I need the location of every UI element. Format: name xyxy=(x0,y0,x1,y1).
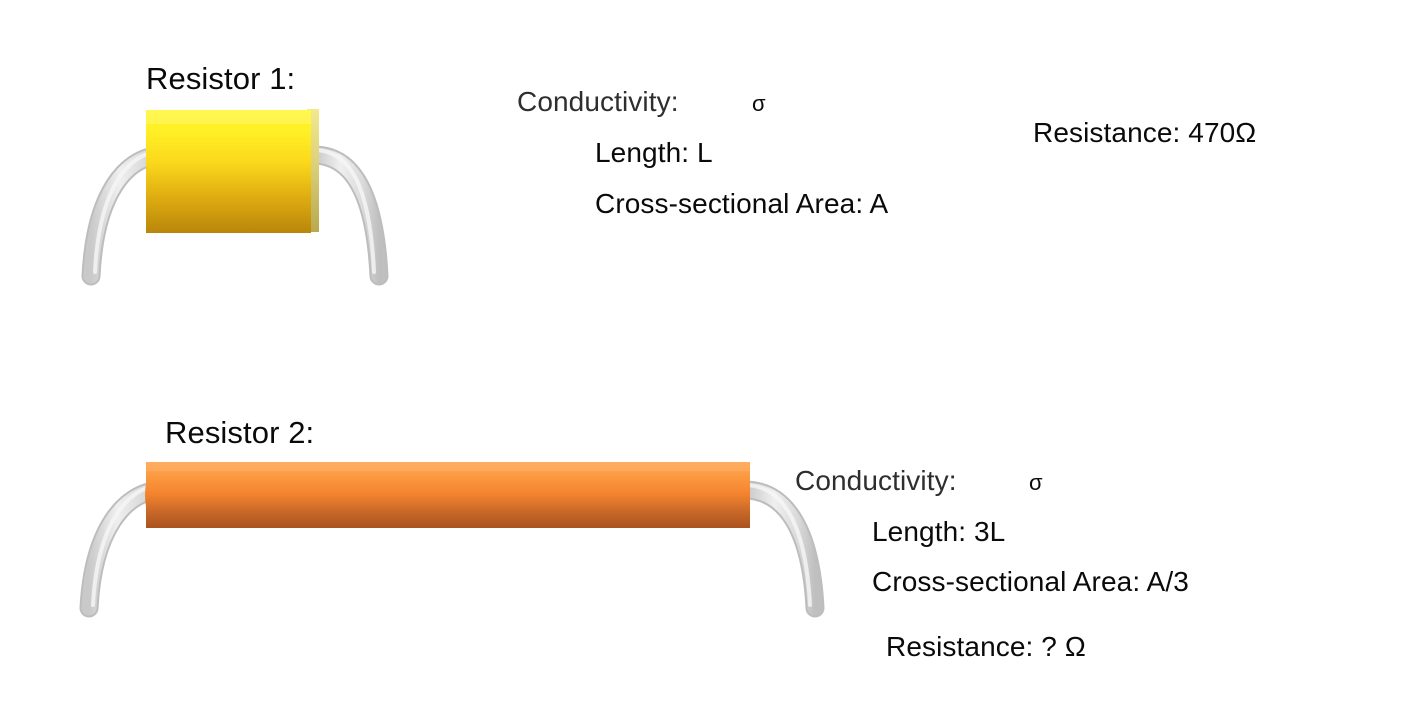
diagram-canvas: Resistor 1: xyxy=(0,0,1416,712)
resistor-2-right-lead xyxy=(747,485,815,608)
resistor-1-resistance: Resistance: 470Ω xyxy=(1033,119,1256,147)
resistor-1-length: Length: L xyxy=(595,139,713,167)
resistor-2-component xyxy=(75,450,855,615)
resistor-1-title: Resistor 1: xyxy=(146,63,295,94)
resistor-1-right-lead xyxy=(315,150,379,276)
resistor-2-area: Cross-sectional Area: A/3 xyxy=(872,568,1189,596)
resistor-1-component xyxy=(75,100,405,285)
resistor-1-area: Cross-sectional Area: A xyxy=(595,190,888,218)
resistor-2-body xyxy=(146,462,750,528)
resistor-1-body xyxy=(146,110,311,233)
resistor-2-conductivity-label: Conductivity: xyxy=(795,467,957,495)
resistor-2-title: Resistor 2: xyxy=(165,417,314,448)
resistor-2-resistance: Resistance: ? Ω xyxy=(886,633,1086,661)
resistor-2-conductivity-value: σ xyxy=(1029,472,1043,494)
resistor-2-length: Length: 3L xyxy=(872,518,1005,546)
resistor-1-conductivity-label: Conductivity: xyxy=(517,88,679,116)
resistor-1-conductivity-value: σ xyxy=(752,93,766,115)
